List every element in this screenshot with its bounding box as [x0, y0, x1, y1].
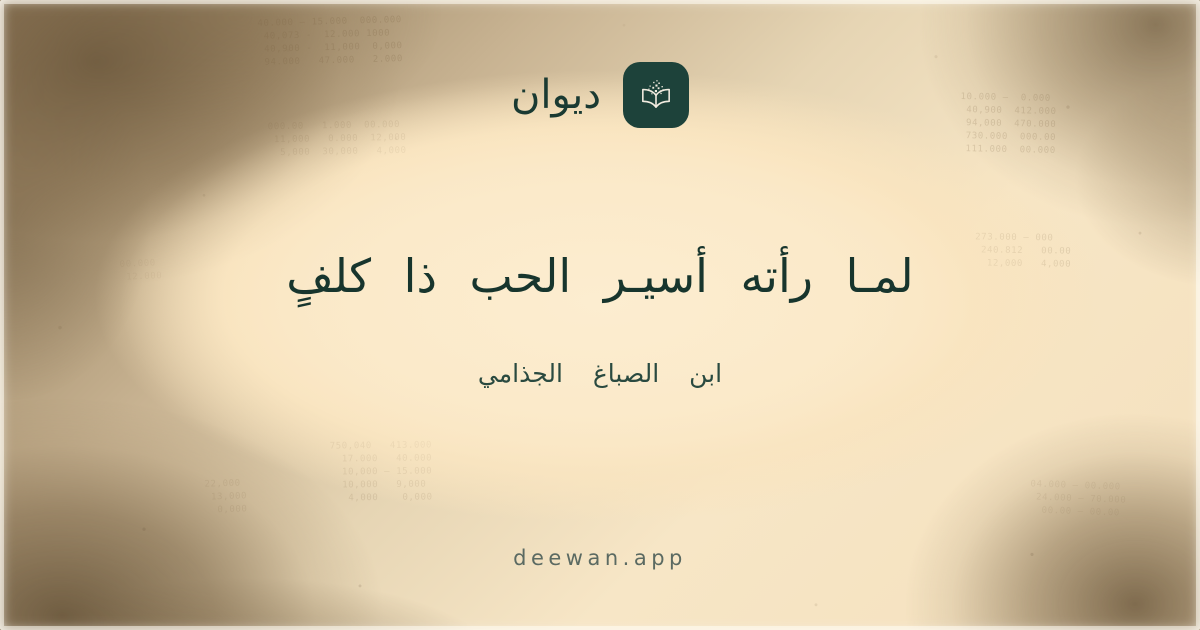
site-url[interactable]: deewan.app — [513, 546, 687, 570]
verse-text: لمـا رأته أسيـر الحب ذا كلفٍ — [286, 242, 913, 311]
footer: deewan.app — [0, 546, 1200, 570]
brand-name: ديوان — [511, 75, 601, 115]
brand-header[interactable]: ديوان — [511, 62, 689, 128]
open-book-with-sparkles-icon — [636, 75, 676, 115]
poet-name: ابن الصباغ الجذامي — [478, 359, 722, 388]
quote-card: 40.000 — 15.000 000.000 40,073 - 12.000 … — [0, 0, 1200, 630]
card-content: ديوان لمـا رأته أسيـر الحب ذا كلفٍ ابن ا… — [0, 0, 1200, 630]
brand-logo[interactable] — [623, 62, 689, 128]
